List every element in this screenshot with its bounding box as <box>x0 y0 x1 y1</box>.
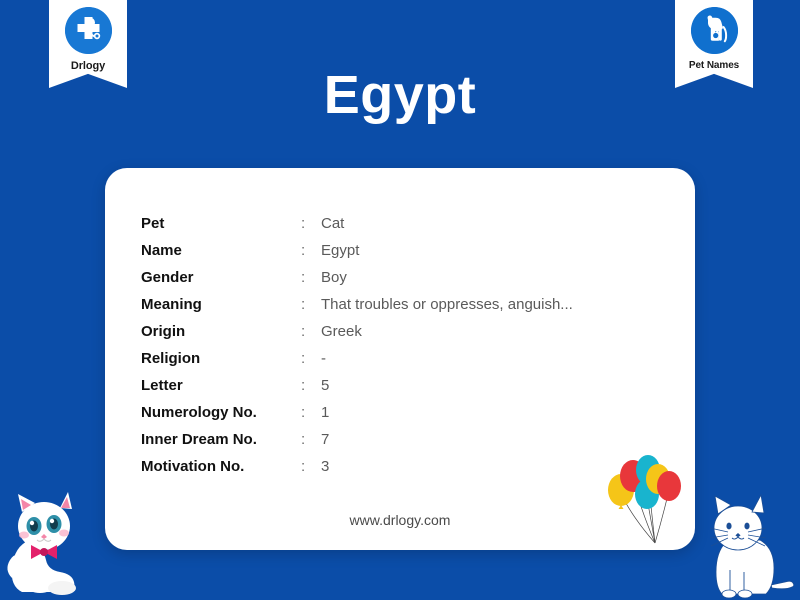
table-row: Inner Dream No. : 7 <box>141 426 661 453</box>
row-value-numerology-no: 1 <box>321 399 661 426</box>
row-value-meaning: That troubles or oppresses, anguish... <box>321 291 661 318</box>
row-label-religion: Religion <box>141 345 301 372</box>
row-label-inner-dream-no: Inner Dream No. <box>141 426 301 453</box>
row-separator: : <box>301 210 321 237</box>
row-label-name: Name <box>141 237 301 264</box>
row-separator: : <box>301 264 321 291</box>
row-value-pet: Cat <box>321 210 661 237</box>
table-row: Letter : 5 <box>141 372 661 399</box>
row-value-gender: Boy <box>321 264 661 291</box>
row-separator: : <box>301 291 321 318</box>
row-value-name: Egypt <box>321 237 661 264</box>
table-row: Gender : Boy <box>141 264 661 291</box>
row-label-gender: Gender <box>141 264 301 291</box>
row-value-letter: 5 <box>321 372 661 399</box>
table-row: Numerology No. : 1 <box>141 399 661 426</box>
row-label-motivation-no: Motivation No. <box>141 453 301 480</box>
dog-cat-silhouette-icon <box>691 7 738 54</box>
row-value-religion: - <box>321 345 661 372</box>
line-art-cat-icon <box>698 490 796 600</box>
row-separator: : <box>301 372 321 399</box>
row-label-pet: Pet <box>141 210 301 237</box>
row-value-inner-dream-no: 7 <box>321 426 661 453</box>
table-row: Origin : Greek <box>141 318 661 345</box>
row-value-motivation-no: 3 <box>321 453 661 480</box>
table-row: Motivation No. : 3 <box>141 453 661 480</box>
page-title: Egypt <box>0 66 800 125</box>
row-label-numerology-no: Numerology No. <box>141 399 301 426</box>
row-separator: : <box>301 318 321 345</box>
website-url: www.drlogy.com <box>105 512 695 528</box>
row-label-meaning: Meaning <box>141 291 301 318</box>
medical-cross-stethoscope-icon <box>65 7 112 54</box>
row-separator: : <box>301 345 321 372</box>
pet-details-table: Pet : Cat Name : Egypt Gender : Boy Mean… <box>141 210 661 480</box>
table-row: Religion : - <box>141 345 661 372</box>
cartoon-cat-icon <box>0 482 92 600</box>
row-label-letter: Letter <box>141 372 301 399</box>
row-value-origin: Greek <box>321 318 661 345</box>
row-label-origin: Origin <box>141 318 301 345</box>
row-separator: : <box>301 399 321 426</box>
row-separator: : <box>301 426 321 453</box>
table-row: Meaning : That troubles or oppresses, an… <box>141 291 661 318</box>
pet-name-info-card: Pet : Cat Name : Egypt Gender : Boy Mean… <box>105 168 695 550</box>
table-row: Name : Egypt <box>141 237 661 264</box>
row-separator: : <box>301 237 321 264</box>
table-row: Pet : Cat <box>141 210 661 237</box>
row-separator: : <box>301 453 321 480</box>
